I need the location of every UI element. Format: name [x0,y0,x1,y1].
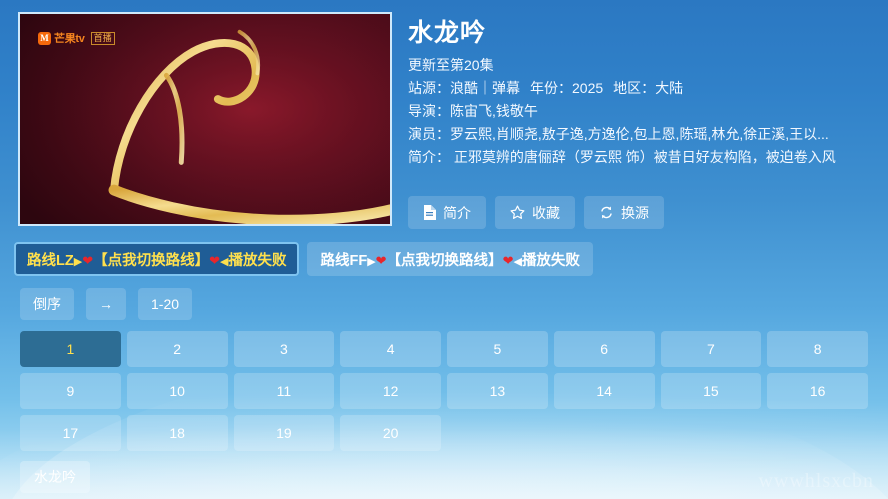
episode-cell[interactable]: 2 [127,331,228,367]
cast-value: 罗云熙,肖顺尧,敖子逸,方逸伦,包上恩,陈瑶,林允,徐正溪,王以... [450,126,829,142]
favorite-button[interactable]: 收藏 [495,196,575,229]
year-value: 2025 [572,80,603,96]
favorite-button-label: 收藏 [532,203,560,223]
episode-cell[interactable]: 18 [127,415,228,451]
background-watermark: wwwhlsxcbn [758,470,874,493]
provider-tag: 首播 [91,32,115,45]
star-icon [510,205,525,220]
synopsis-line: 简介： 正邪莫辨的唐俪辞（罗云熙 饰）被昔日好友构陷，被迫卷入风 [408,146,882,169]
episode-cell[interactable]: 17 [20,415,121,451]
play-triangle-left-icon: ◀ [513,256,521,268]
episode-cell[interactable]: 7 [661,331,762,367]
document-icon [423,205,436,220]
refresh-icon [599,205,614,220]
region-label: 地区： [613,80,655,96]
episode-cell[interactable]: 8 [767,331,868,367]
route-button-lz[interactable]: 路线LZ▶❤【点我切换路线】❤◀播放失败 [14,242,299,276]
episode-cell[interactable]: 13 [447,373,548,409]
mango-tv-logo-icon: M [38,32,51,45]
next-page-arrow-icon[interactable]: → [86,288,126,320]
director-line: 导演：陈宙飞,钱敬午 [408,100,882,123]
cast-line: 演员：罗云熙,肖顺尧,敖子逸,方逸伦,包上恩,陈瑶,林允,徐正溪,王以... [408,123,882,146]
synopsis-button-label: 简介 [443,203,471,223]
cast-label: 演员： [408,126,450,142]
episode-cell[interactable]: 1 [20,331,121,367]
route-ff-label: 路线FF▶❤【点我切换路线】❤◀播放失败 [320,249,579,270]
route-button-ff[interactable]: 路线FF▶❤【点我切换路线】❤◀播放失败 [307,242,592,276]
synopsis-label: 简介： [408,149,450,165]
video-detail-page: wwwhlsxcbn M 芒果 [0,0,888,499]
episode-cell[interactable]: 6 [554,331,655,367]
episode-cell[interactable]: 11 [234,373,335,409]
episode-cell[interactable]: 4 [340,331,441,367]
episode-cell[interactable]: 10 [127,373,228,409]
action-button-row: 简介 收藏 换源 [408,196,664,229]
provider-badge: M 芒果tv 首播 [38,30,115,46]
heart-icon: ❤ [376,253,387,268]
video-poster[interactable]: M 芒果tv 首播 [18,12,392,226]
change-source-button[interactable]: 换源 [584,196,664,229]
route-lz-label: 路线LZ▶❤【点我切换路线】❤◀播放失败 [27,249,286,270]
play-triangle-icon: ▶ [367,256,375,268]
source-label: 站源： [408,80,450,96]
sort-order-button[interactable]: 倒序 [20,288,74,320]
source-value: 浪酷｜弹幕 [450,80,520,96]
year-label: 年份： [530,80,572,96]
episode-cell[interactable]: 5 [447,331,548,367]
episode-range-button[interactable]: 1-20 [138,288,192,320]
provider-name: 芒果tv [54,30,85,46]
video-info-panel: 水龙吟 更新至第20集 站源：浪酷｜弹幕年份：2025地区：大陆 导演：陈宙飞,… [408,18,882,169]
episode-cell[interactable]: 16 [767,373,868,409]
play-triangle-left-icon: ◀ [220,256,228,268]
episode-cell[interactable]: 12 [340,373,441,409]
episode-cell[interactable]: 3 [234,331,335,367]
episode-cell[interactable]: 19 [234,415,335,451]
director-label: 导演： [408,103,450,119]
play-triangle-icon: ▶ [74,256,82,268]
heart-icon: ❤ [209,253,220,268]
update-status: 更新至第20集 [408,54,882,77]
change-source-button-label: 换源 [621,203,649,223]
episode-cell[interactable]: 20 [340,415,441,451]
episode-cell[interactable]: 15 [661,373,762,409]
route-button-row: 路线LZ▶❤【点我切换路线】❤◀播放失败 路线FF▶❤【点我切换路线】❤◀播放失… [14,242,593,276]
synopsis-value: 正邪莫辨的唐俪辞（罗云熙 饰）被昔日好友构陷，被迫卷入风 [454,149,836,165]
heart-icon: ❤ [503,253,514,268]
page-title: 水龙吟 [408,18,882,48]
heart-icon: ❤ [82,253,93,268]
synopsis-button[interactable]: 简介 [408,196,486,229]
region-value: 大陆 [655,80,683,96]
episode-controls-row: 倒序 → 1-20 [20,288,192,320]
director-value: 陈宙飞,钱敬午 [450,103,538,119]
episode-cell[interactable]: 9 [20,373,121,409]
episode-grid: 1234567891011121314151617181920 [20,331,868,451]
bottom-title-chip[interactable]: 水龙吟 [20,461,90,493]
source-year-region-line: 站源：浪酷｜弹幕年份：2025地区：大陆 [408,77,882,100]
episode-cell[interactable]: 14 [554,373,655,409]
